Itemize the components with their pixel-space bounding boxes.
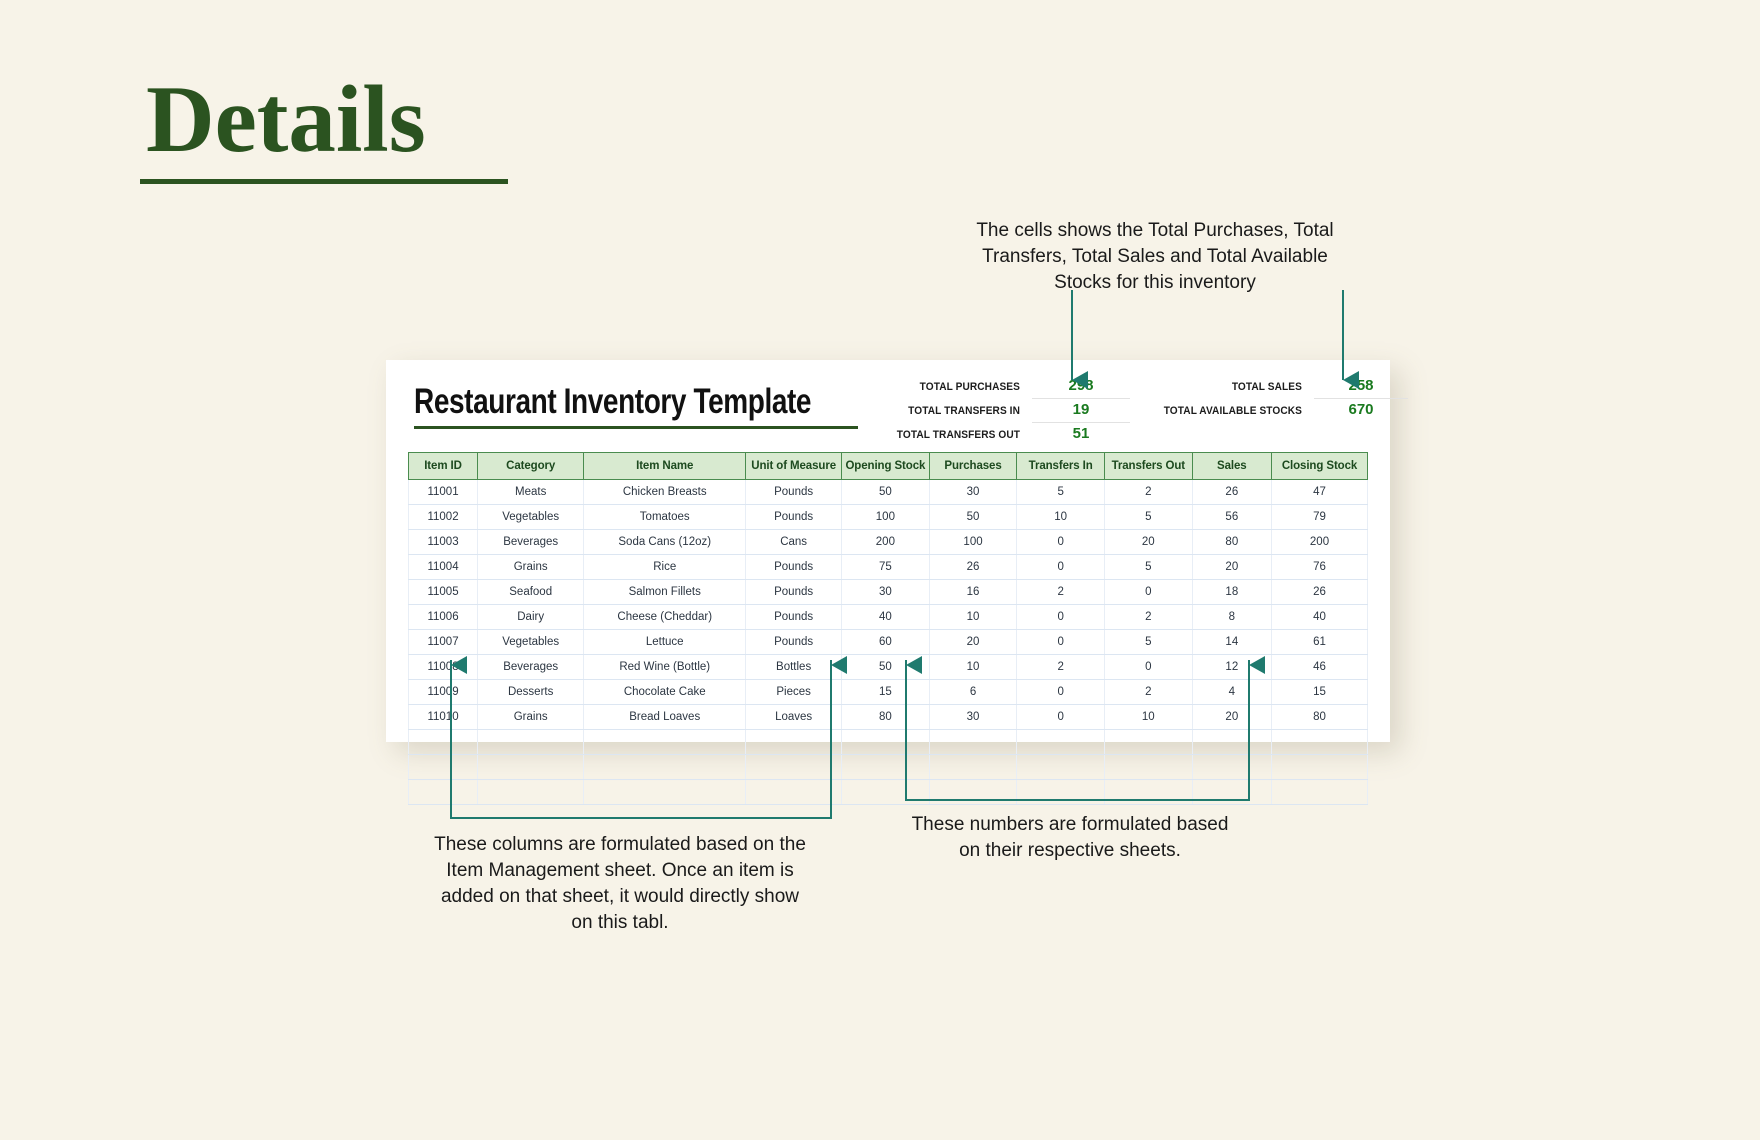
table-cell[interactable]: 47 [1272,480,1368,505]
table-cell[interactable]: 2 [1017,655,1105,680]
table-cell-empty[interactable] [1192,755,1271,780]
summary-stat-label: TOTAL AVAILABLE STOCKS [1131,405,1302,417]
table-cell[interactable]: Tomatoes [584,505,746,530]
table-cell-empty[interactable] [929,730,1017,755]
table-cell[interactable]: Pounds [746,505,842,530]
table-cell[interactable]: 30 [929,705,1017,730]
table-cell[interactable]: 20 [1192,705,1271,730]
table-cell-empty[interactable] [746,780,842,805]
table-cell[interactable]: 2 [1104,605,1192,630]
table-cell[interactable]: 26 [1272,580,1368,605]
table-cell[interactable]: 61 [1272,630,1368,655]
table-cell-empty[interactable] [842,780,930,805]
table-cell[interactable]: Vegetables [478,505,584,530]
table-cell[interactable]: 60 [842,630,930,655]
table-cell-empty[interactable] [1104,755,1192,780]
table-cell-empty[interactable] [409,755,478,780]
sheet-title-underline [414,426,858,429]
column-header[interactable]: Closing Stock [1272,453,1368,480]
table-cell[interactable]: 76 [1272,555,1368,580]
table-cell[interactable]: Vegetables [478,630,584,655]
summary-block-right: TOTAL SALES258TOTAL AVAILABLE STOCKS670 [1116,376,1408,424]
table-cell[interactable]: 0 [1017,555,1105,580]
table-cell[interactable]: 40 [842,605,930,630]
table-cell[interactable]: 2 [1017,580,1105,605]
table-cell[interactable]: 200 [842,530,930,555]
table-cell-empty[interactable] [1272,730,1368,755]
summary-stat-row: TOTAL PURCHASES298 [878,376,1130,400]
column-header[interactable]: Item Name [584,453,746,480]
table-cell[interactable]: 0 [1017,680,1105,705]
table-cell[interactable]: 12 [1192,655,1271,680]
table-cell[interactable]: 20 [1104,530,1192,555]
table-cell[interactable]: 11005 [409,580,478,605]
page-title-underline [140,179,508,184]
table-cell-empty[interactable] [929,755,1017,780]
table-cell-empty[interactable] [584,755,746,780]
page-title: Details [140,72,508,167]
table-cell[interactable]: 11002 [409,505,478,530]
table-row[interactable]: 11003BeveragesSoda Cans (12oz)Cans200100… [409,530,1368,555]
table-cell[interactable]: 10 [1104,705,1192,730]
table-cell[interactable]: Bottles [746,655,842,680]
table-cell[interactable]: 10 [929,655,1017,680]
table-row[interactable]: 11005SeafoodSalmon FilletsPounds30162018… [409,580,1368,605]
table-cell[interactable]: 0 [1017,630,1105,655]
table-cell[interactable]: Grains [478,705,584,730]
table-cell[interactable]: 0 [1017,605,1105,630]
table-cell[interactable]: 200 [1272,530,1368,555]
table-cell[interactable]: 14 [1192,630,1271,655]
table-cell[interactable]: 75 [842,555,930,580]
table-cell[interactable]: 5 [1104,505,1192,530]
column-header[interactable]: Unit of Measure [746,453,842,480]
table-row-empty[interactable] [409,755,1368,780]
summary-stat-label: TOTAL TRANSFERS IN [889,405,1020,417]
table-row[interactable]: 11007VegetablesLettucePounds6020051461 [409,630,1368,655]
summary-stat-row: TOTAL SALES258 [1116,376,1408,400]
column-header[interactable]: Purchases [929,453,1017,480]
summary-stat-label: TOTAL PURCHASES [889,381,1020,393]
table-cell[interactable]: 46 [1272,655,1368,680]
table-cell[interactable]: Grains [478,555,584,580]
table-cell[interactable]: Soda Cans (12oz) [584,530,746,555]
table-cell[interactable]: 26 [1192,480,1271,505]
table-cell[interactable]: 80 [842,705,930,730]
table-cell[interactable]: Cans [746,530,842,555]
table-cell[interactable]: 0 [1017,530,1105,555]
table-cell-empty[interactable] [929,780,1017,805]
table-cell[interactable]: 11006 [409,605,478,630]
table-cell[interactable]: 11001 [409,480,478,505]
table-row[interactable]: 11008BeveragesRed Wine (Bottle)Bottles50… [409,655,1368,680]
annotation-columns-text: These columns are formulated based on th… [430,832,810,936]
table-cell[interactable]: 6 [929,680,1017,705]
summary-stat-label: TOTAL SALES [1131,381,1302,393]
table-cell[interactable]: Pieces [746,680,842,705]
table-row[interactable]: 11004GrainsRicePounds7526052076 [409,555,1368,580]
table-cell[interactable]: Pounds [746,480,842,505]
table-cell[interactable]: 30 [842,580,930,605]
table-cell[interactable]: 5 [1104,555,1192,580]
table-cell-empty[interactable] [842,755,930,780]
table-cell[interactable]: 80 [1272,705,1368,730]
table-cell[interactable]: 100 [929,530,1017,555]
table-cell[interactable]: 16 [929,580,1017,605]
table-cell-empty[interactable] [746,730,842,755]
table-header-row-group: Item IDCategoryItem NameUnit of MeasureO… [409,453,1368,480]
table-cell[interactable]: 20 [929,630,1017,655]
table-cell-empty[interactable] [1104,780,1192,805]
table-cell-empty[interactable] [746,755,842,780]
table-cell-empty[interactable] [1272,780,1368,805]
table-cell-empty[interactable] [584,780,746,805]
table-cell-empty[interactable] [409,780,478,805]
table-cell[interactable]: Desserts [478,680,584,705]
table-cell[interactable]: 80 [1192,530,1271,555]
table-row[interactable]: 11010GrainsBread LoavesLoaves80300102080 [409,705,1368,730]
table-cell[interactable]: 100 [842,505,930,530]
table-cell[interactable]: Seafood [478,580,584,605]
table-cell-empty[interactable] [842,730,930,755]
table-cell[interactable]: Beverages [478,530,584,555]
table-cell[interactable]: Pounds [746,555,842,580]
table-cell[interactable]: Beverages [478,655,584,680]
table-cell[interactable]: 5 [1017,480,1105,505]
table-cell-empty[interactable] [1192,780,1271,805]
table-body[interactable]: 11001MeatsChicken BreastsPounds503052264… [409,480,1368,805]
table-cell[interactable]: Bread Loaves [584,705,746,730]
spreadsheet-card: Restaurant Inventory Template TOTAL PURC… [386,360,1390,742]
summary-stat-label: TOTAL TRANSFERS OUT [889,429,1020,441]
table-cell[interactable]: Salmon Fillets [584,580,746,605]
table-cell[interactable]: Pounds [746,630,842,655]
column-header[interactable]: Transfers Out [1104,453,1192,480]
column-header[interactable]: Sales [1192,453,1271,480]
summary-stat-row: TOTAL TRANSFERS IN19 [878,400,1130,424]
table-cell[interactable]: 50 [842,655,930,680]
table-cell[interactable]: Dairy [478,605,584,630]
table-row[interactable]: 11006DairyCheese (Cheddar)Pounds40100284… [409,605,1368,630]
table-cell[interactable]: 56 [1192,505,1271,530]
table-cell[interactable]: Meats [478,480,584,505]
table-cell[interactable]: 15 [842,680,930,705]
annotation-totals-text: The cells shows the Total Purchases, Tot… [975,218,1335,296]
table-cell[interactable]: 10 [929,605,1017,630]
table-cell-empty[interactable] [584,730,746,755]
table-cell[interactable]: 11004 [409,555,478,580]
page-title-block: Details [140,72,508,184]
table-cell[interactable]: Lettuce [584,630,746,655]
table-cell[interactable]: 0 [1017,705,1105,730]
table-cell[interactable]: 2 [1104,480,1192,505]
summary-stat-value[interactable]: 51 [1032,424,1130,446]
table-cell[interactable]: Pounds [746,580,842,605]
table-cell-empty[interactable] [478,730,584,755]
table-cell[interactable]: 11009 [409,680,478,705]
table-row[interactable]: 11002VegetablesTomatoesPounds10050105567… [409,505,1368,530]
column-header[interactable]: Category [478,453,584,480]
table-cell[interactable]: 11007 [409,630,478,655]
table-cell[interactable]: 79 [1272,505,1368,530]
table-row[interactable]: 11009DessertsChocolate CakePieces1560241… [409,680,1368,705]
summary-stat-row: TOTAL AVAILABLE STOCKS670 [1116,400,1408,424]
sheet-title: Restaurant Inventory Template [414,382,811,422]
table-cell-empty[interactable] [478,780,584,805]
table-cell[interactable]: Cheese (Cheddar) [584,605,746,630]
table-cell[interactable]: 11010 [409,705,478,730]
table-row-empty[interactable] [409,730,1368,755]
column-header[interactable]: Transfers In [1017,453,1105,480]
table-cell-empty[interactable] [1104,730,1192,755]
table-cell[interactable]: 30 [929,480,1017,505]
table-cell[interactable]: Chocolate Cake [584,680,746,705]
table-cell[interactable]: 0 [1104,580,1192,605]
table-cell-empty[interactable] [1017,780,1105,805]
column-header[interactable]: Item ID [409,453,478,480]
table-cell[interactable]: Pounds [746,605,842,630]
table-cell[interactable]: 20 [1192,555,1271,580]
table-header-row: Item IDCategoryItem NameUnit of MeasureO… [409,453,1368,480]
table-cell-empty[interactable] [1017,755,1105,780]
table-cell[interactable]: 5 [1104,630,1192,655]
summary-block-left: TOTAL PURCHASES298TOTAL TRANSFERS IN19TO… [878,376,1130,448]
table-cell[interactable]: Loaves [746,705,842,730]
summary-stat-value[interactable]: 670 [1314,400,1408,422]
table-cell[interactable]: 0 [1104,655,1192,680]
table-cell[interactable]: 11003 [409,530,478,555]
table-cell[interactable]: 40 [1272,605,1368,630]
summary-stat-value[interactable]: 258 [1314,376,1408,399]
table-cell-empty[interactable] [478,755,584,780]
table-cell[interactable]: Chicken Breasts [584,480,746,505]
table-cell[interactable]: 50 [842,480,930,505]
table-cell[interactable]: 8 [1192,605,1271,630]
table-cell-empty[interactable] [1272,755,1368,780]
table-cell[interactable]: 10 [1017,505,1105,530]
table-cell-empty[interactable] [1017,730,1105,755]
table-cell[interactable]: 11008 [409,655,478,680]
column-header[interactable]: Opening Stock [842,453,930,480]
table-cell[interactable]: 50 [929,505,1017,530]
table-row[interactable]: 11001MeatsChicken BreastsPounds503052264… [409,480,1368,505]
sheet-header: Restaurant Inventory Template TOTAL PURC… [386,360,1390,452]
inventory-table[interactable]: Item IDCategoryItem NameUnit of MeasureO… [408,452,1368,805]
table-cell[interactable]: 15 [1272,680,1368,705]
annotation-numbers-text: These numbers are formulated based on th… [905,812,1235,864]
table-cell[interactable]: 2 [1104,680,1192,705]
summary-stat-row: TOTAL TRANSFERS OUT51 [878,424,1130,448]
table-cell[interactable]: 4 [1192,680,1271,705]
table-cell[interactable]: 26 [929,555,1017,580]
table-cell-empty[interactable] [1192,730,1271,755]
table-row-empty[interactable] [409,780,1368,805]
table-cell[interactable]: Rice [584,555,746,580]
table-cell[interactable]: Red Wine (Bottle) [584,655,746,680]
table-cell-empty[interactable] [409,730,478,755]
table-cell[interactable]: 18 [1192,580,1271,605]
